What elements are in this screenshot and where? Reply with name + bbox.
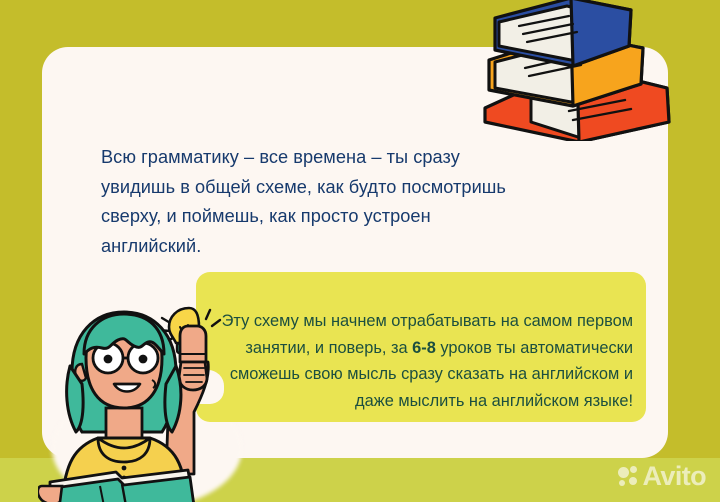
girl-pupil-left bbox=[104, 355, 113, 364]
stack-of-books-illustration bbox=[473, 0, 673, 141]
poster-canvas: Всю грамматику – все времена – ты сразу … bbox=[0, 0, 720, 502]
girl-pupil-right bbox=[139, 355, 148, 364]
girl-reading-illustration bbox=[38, 296, 268, 502]
girl-index-finger bbox=[180, 326, 206, 362]
girl-hand-left bbox=[38, 486, 62, 502]
avito-watermark: Avito bbox=[618, 463, 707, 490]
headline-paragraph: Всю грамматику – все времена – ты сразу … bbox=[101, 143, 601, 261]
girl-button-1 bbox=[122, 466, 127, 471]
speech-bubble-text: Эту схему мы начнем отрабатывать на само… bbox=[210, 281, 633, 415]
bubble-highlight-lessons: 6-8 bbox=[412, 339, 436, 357]
avito-logo-icon bbox=[618, 466, 639, 487]
girl-fist bbox=[179, 362, 207, 390]
avito-wordmark: Avito bbox=[643, 463, 707, 490]
